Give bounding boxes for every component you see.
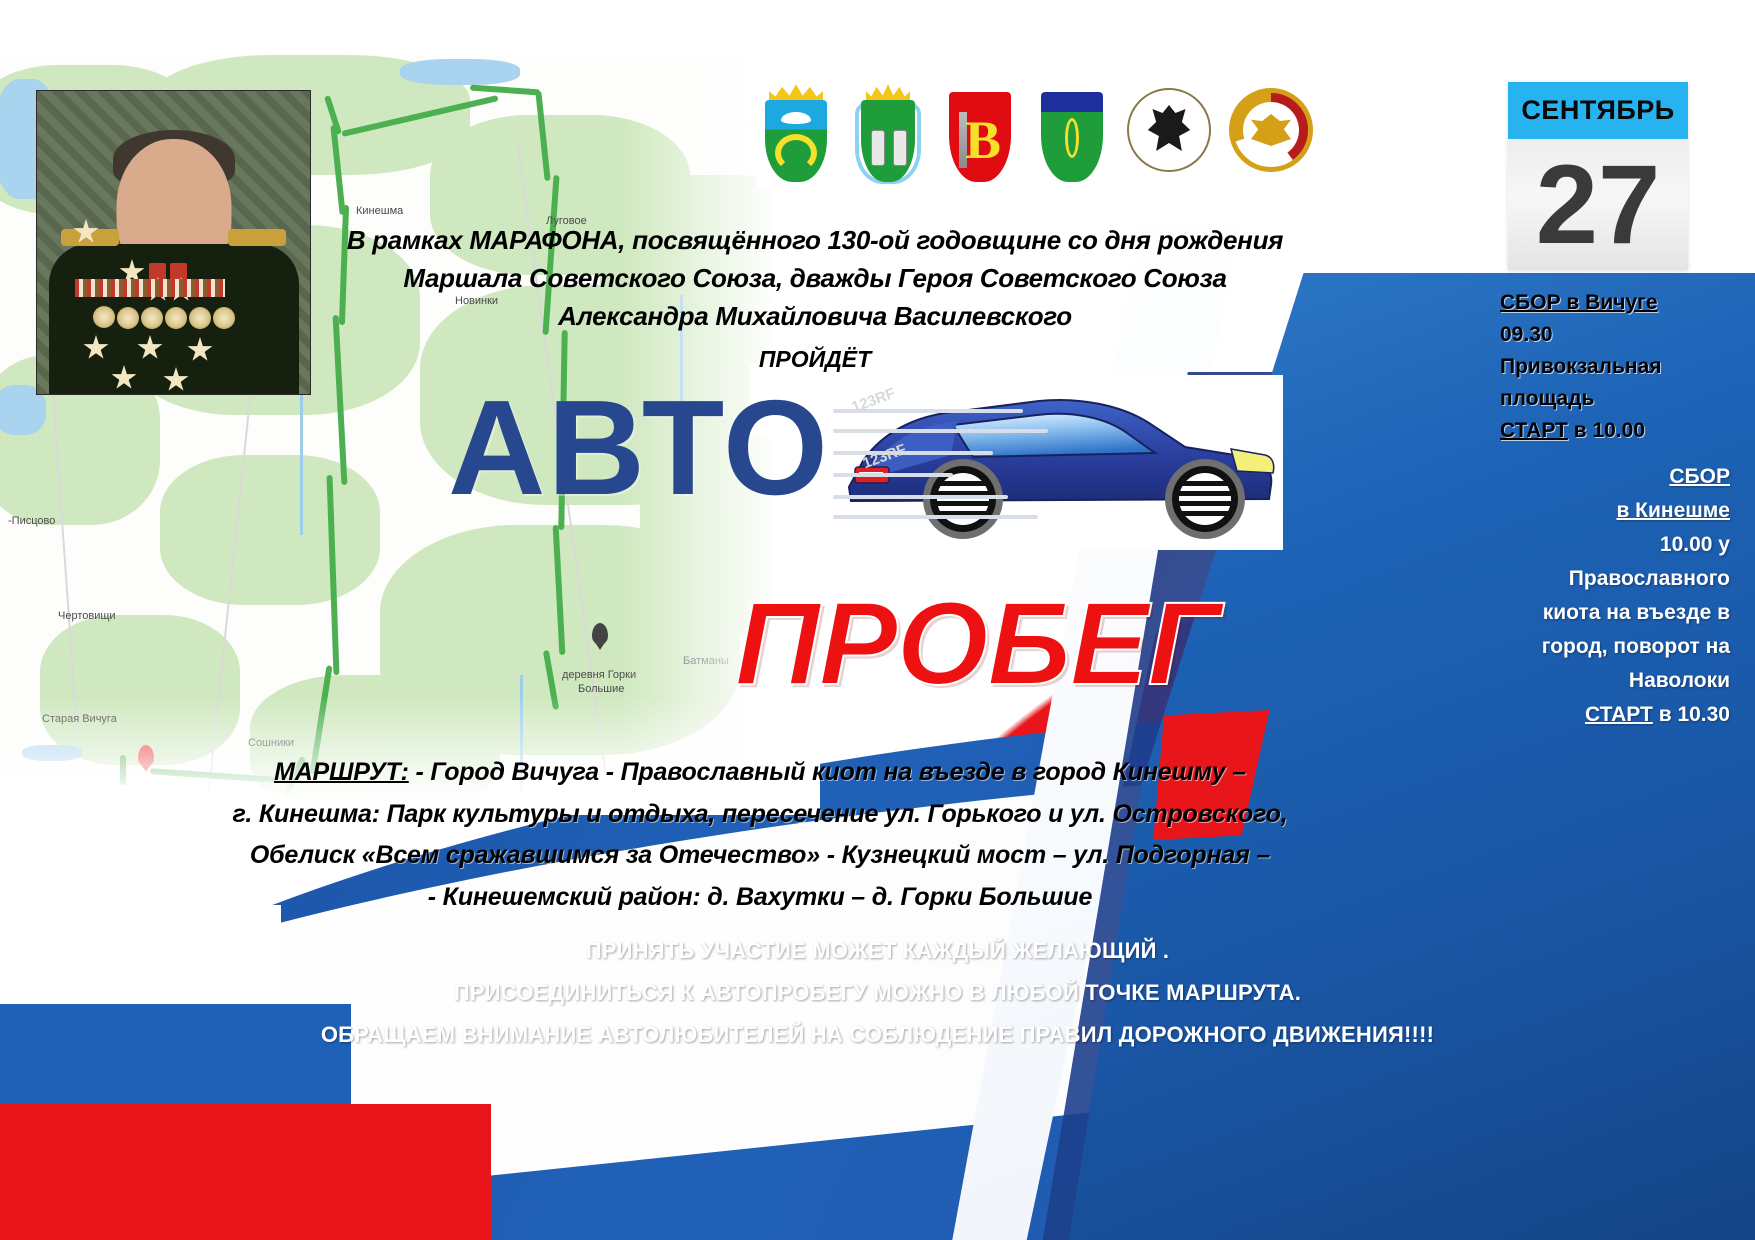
map-label: Чертовищи (58, 610, 116, 622)
gathering-kineshma-line-4: город, поворот на (1440, 630, 1730, 664)
event-date-calendar: СЕНТЯБРЬ 27 (1508, 82, 1688, 270)
vasilevsky-portrait (36, 90, 311, 395)
crest-kineshma (849, 78, 927, 188)
route-line-3: Обелиск «Всем сражавшимся за Отечество» … (60, 835, 1460, 877)
car-illustration: 123RF 123RF (833, 375, 1283, 550)
route-line-4: - Кинешемский район: д. Вахутки – д. Гор… (60, 877, 1460, 919)
route-line-2: г. Кинешма: Парк культуры и отдыха, пере… (60, 794, 1460, 836)
gathering-kineshma-block: СБОР в Кинешме 10.00 у Православного кио… (1440, 460, 1730, 732)
gathering-vichuga-place-2: площадь (1500, 383, 1700, 415)
notice-line-3: ОБРАЩАЕМ ВНИМАНИЕ АВТОЛЮБИТЕЛЕЙ НА СОБЛЮ… (0, 1014, 1755, 1056)
map-label: Большие (578, 683, 624, 695)
map-label: -Писцово (8, 515, 55, 527)
calendar-month: СЕНТЯБРЬ (1508, 82, 1688, 139)
gathering-kineshma-heading-1: СБОР (1669, 465, 1730, 488)
crest-military-commissariat (1227, 78, 1315, 182)
marathon-line-1: В рамках МАРАФОНА, посвящённого 130-ой г… (336, 222, 1294, 260)
gathering-kineshma-start-label: СТАРТ (1585, 703, 1653, 726)
crest-vichuga (757, 78, 835, 188)
map-label: Кинешма (356, 205, 403, 217)
marathon-line-3: Александра Михайловича Василевского (336, 298, 1294, 336)
route-description: МАРШРУТ: - Город Вичуга - Православный к… (60, 752, 1460, 918)
route-label: МАРШРУТ: (274, 758, 409, 786)
title-avto: АВТО (448, 380, 830, 515)
crest-ivanovo-oblast: В (941, 78, 1019, 188)
gathering-kineshma-line-2: Православного (1440, 562, 1730, 596)
flag-red-left-band (0, 1104, 491, 1240)
marathon-intro-text: В рамках МАРАФОНА, посвящённого 130-ой г… (336, 222, 1294, 336)
marathon-line-2: Маршала Советского Союза, дважды Героя С… (336, 260, 1294, 298)
gathering-kineshma-line-1: 10.00 у (1440, 528, 1730, 562)
gathering-vichuga-time: 09.30 (1500, 319, 1700, 351)
poster-canvas: Кинешма Луговое Новинки -Писцово Чертови… (0, 0, 1755, 1240)
title-probeg: ПРОБЕГ (735, 585, 1219, 703)
gathering-kineshma-heading-2: в Кинешме (1616, 499, 1730, 522)
notice-line-2: ПРИСОЕДИНИТЬСЯ К АВТОПРОБЕГУ МОЖНО В ЛЮБ… (0, 972, 1755, 1014)
gathering-kineshma-start-time: в 10.30 (1653, 703, 1730, 726)
gathering-vichuga-heading: СБОР в Вичуге (1500, 291, 1658, 314)
notices-block: ПРИНЯТЬ УЧАСТИЕ МОЖЕТ КАЖДЫЙ ЖЕЛАЮЩИЙ . … (0, 930, 1755, 1057)
gathering-vichuga-start-time: в 10.00 (1568, 419, 1645, 442)
gathering-vichuga-block: СБОР в Вичуге 09.30 Привокзальная площад… (1500, 287, 1700, 447)
crest-row: В (757, 78, 1315, 188)
gathering-vichuga-place-1: Привокзальная (1500, 351, 1700, 383)
gathering-kineshma-line-3: киота на въезде в (1440, 596, 1730, 630)
crest-military-historical-society (1125, 78, 1213, 182)
gathering-kineshma-line-5: Наволоки (1440, 664, 1730, 698)
route-line-1: - Город Вичуга - Православный киот на въ… (409, 758, 1246, 786)
gathering-vichuga-start-label: СТАРТ (1500, 419, 1568, 442)
proydet-label: ПРОЙДЁТ (336, 348, 1294, 371)
calendar-day: 27 (1508, 139, 1688, 270)
crest-navoloki (1033, 78, 1111, 188)
notice-line-1: ПРИНЯТЬ УЧАСТИЕ МОЖЕТ КАЖДЫЙ ЖЕЛАЮЩИЙ . (0, 930, 1755, 972)
